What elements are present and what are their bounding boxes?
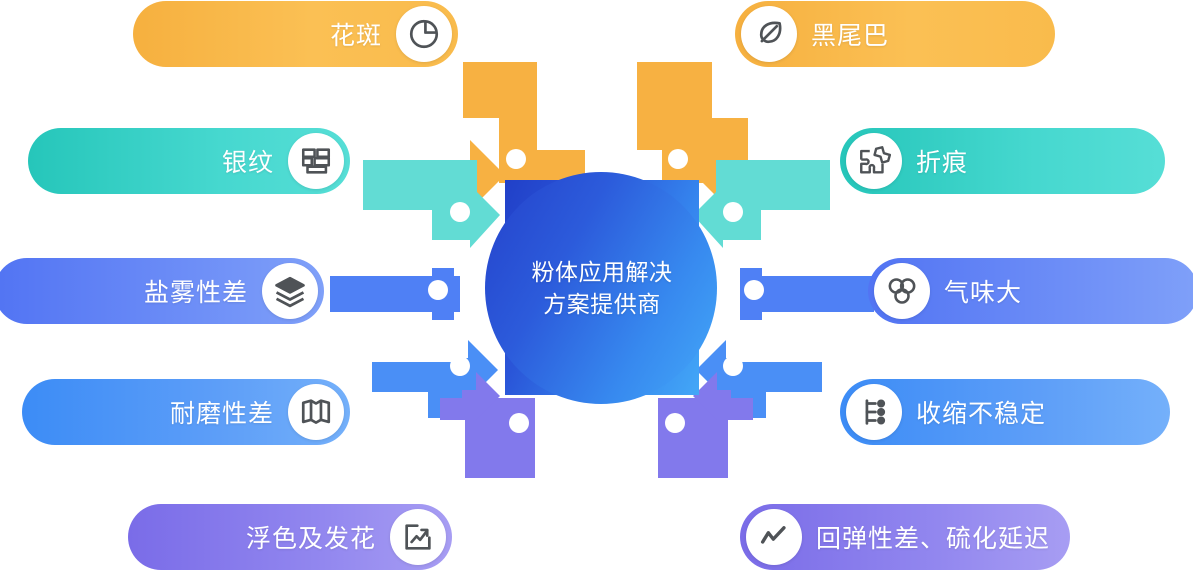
node-2[interactable]: 黑尾巴 (735, 1, 1055, 67)
node-3[interactable]: 银纹 (28, 128, 350, 194)
node-label-5: 盐雾性差 (144, 273, 248, 309)
connector-node-8 (696, 340, 822, 418)
recycle-icon (874, 263, 930, 319)
hub-label: 粉体应用解决 方案提供商 (505, 256, 699, 320)
node-label-10: 回弹性差、硫化延迟 (816, 519, 1050, 555)
pie-chart-icon (396, 6, 452, 62)
center-hub: 粉体应用解决 方案提供商 (505, 180, 699, 395)
node-label-4: 折痕 (916, 143, 968, 179)
node-label-1: 花斑 (330, 16, 382, 52)
node-label-9: 浮色及发花 (246, 519, 376, 555)
brick-wall-icon (288, 133, 344, 189)
node-6[interactable]: 气味大 (868, 258, 1193, 324)
infographic-canvas: 粉体应用解决 方案提供商 花斑 黑尾巴 银纹 (0, 0, 1193, 577)
node-10[interactable]: 回弹性差、硫化延迟 (740, 504, 1070, 570)
connector-node-6 (740, 268, 874, 320)
layers-icon (262, 263, 318, 319)
puzzle-piece-icon (846, 133, 902, 189)
connector-node-7 (372, 340, 498, 418)
node-label-2: 黑尾巴 (811, 16, 889, 52)
node-label-8: 收缩不稳定 (916, 394, 1046, 430)
connector-node-5 (330, 268, 460, 320)
node-8[interactable]: 收缩不稳定 (840, 379, 1170, 445)
line-chart-icon (746, 509, 802, 565)
leaf-icon (741, 6, 797, 62)
sitemap-icon (846, 384, 902, 440)
open-book-icon (288, 384, 344, 440)
node-label-7: 耐磨性差 (170, 394, 274, 430)
node-9[interactable]: 浮色及发花 (128, 504, 452, 570)
trending-up-box-icon (390, 509, 446, 565)
node-5[interactable]: 盐雾性差 (0, 258, 324, 324)
connector-node-4 (693, 160, 830, 248)
node-7[interactable]: 耐磨性差 (22, 379, 350, 445)
connector-node-3 (363, 160, 500, 248)
node-label-6: 气味大 (944, 273, 1022, 309)
node-label-3: 银纹 (222, 143, 274, 179)
node-1[interactable]: 花斑 (133, 1, 458, 67)
node-4[interactable]: 折痕 (840, 128, 1165, 194)
